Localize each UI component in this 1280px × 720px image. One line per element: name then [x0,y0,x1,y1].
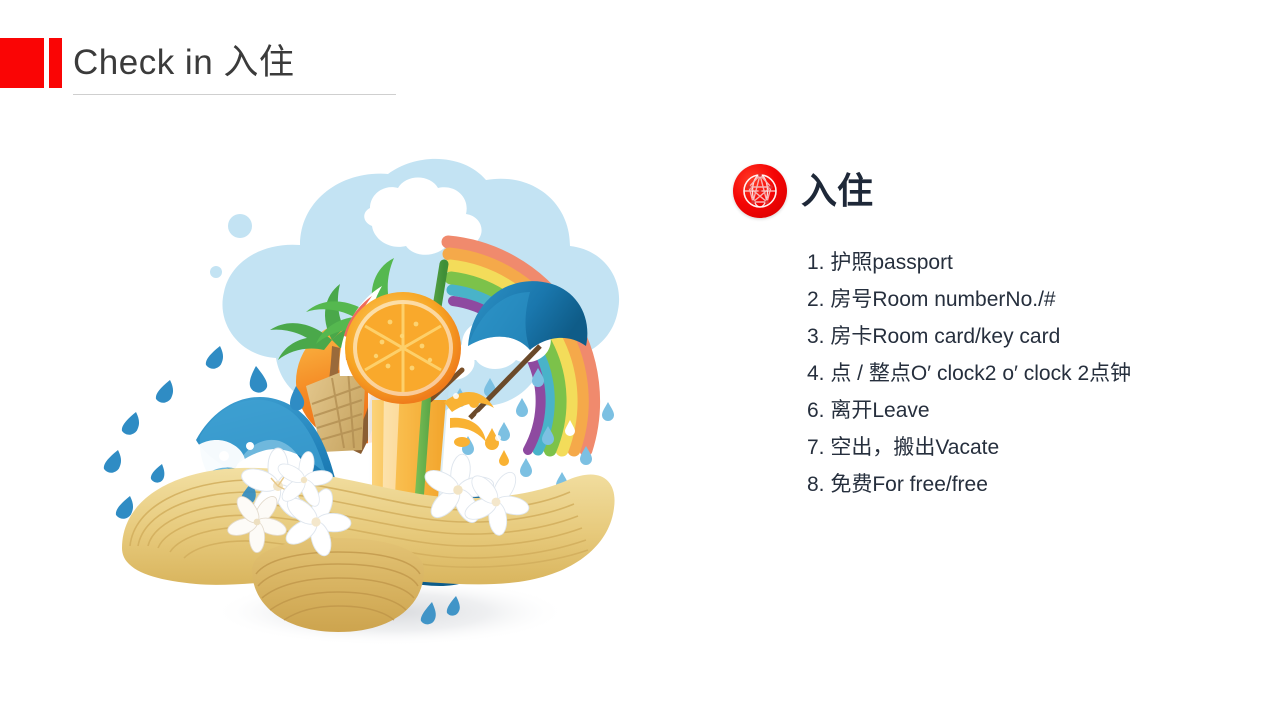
list-item: 2. 房号Room numberNo./# [807,281,1253,318]
list-item: 1. 护照passport [807,244,1253,281]
content-panel: 入住 1. 护照passport 2. 房号Room numberNo./# 3… [733,160,1253,503]
page-title: Check in 入住 [73,40,294,85]
checkin-list: 1. 护照passport 2. 房号Room numberNo./# 3. 房… [807,244,1253,503]
list-item: 6. 离开Leave [807,392,1253,429]
summer-beach-illustration [100,150,670,660]
accent-bar-narrow [49,38,62,88]
section-heading: 入住 [801,169,873,213]
list-item: 7. 空出，搬出Vacate [807,429,1253,466]
title-divider [73,94,396,95]
accent-bar-wide [0,38,44,88]
slide-header: Check in 入住 [0,0,1280,110]
list-item: 4. 点 / 整点O′ clock2 o′ clock 2点钟 [807,355,1253,392]
orange-slice [345,292,461,404]
globe-network-icon [733,164,787,218]
list-item: 8. 免费For free/free [807,466,1253,503]
section-heading-row: 入住 [733,160,1253,222]
list-item: 3. 房卡Room card/key card [807,318,1253,355]
